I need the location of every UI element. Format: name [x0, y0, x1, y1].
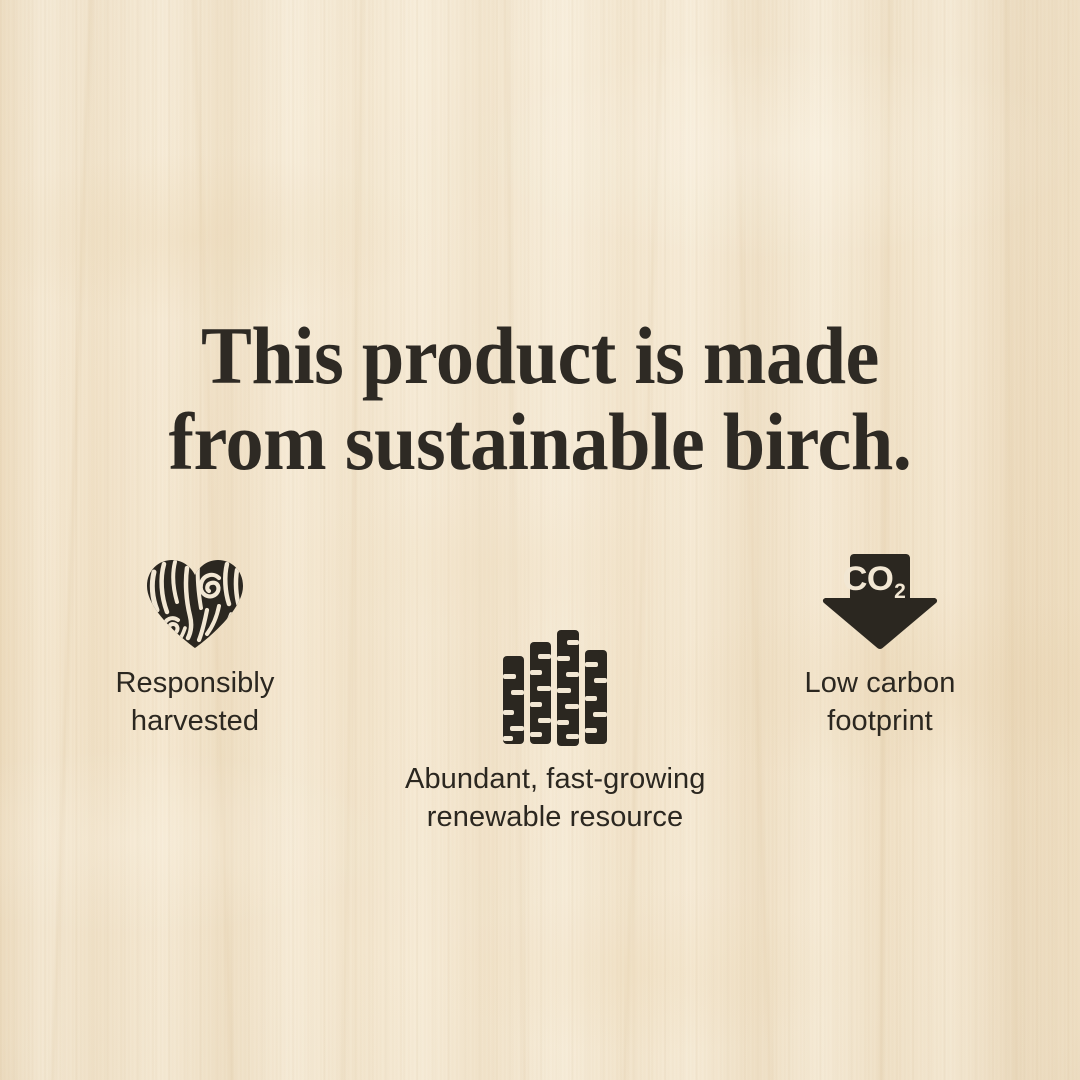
feature-caption: Low carbon footprint: [745, 664, 1015, 741]
feature-icon-slot: CO 2: [745, 546, 1015, 650]
feature-caption-line-1: Low carbon: [745, 664, 1015, 702]
feature-icon-slot: [405, 628, 705, 746]
co2-label: CO: [842, 560, 893, 598]
co2-subscript-label: 2: [894, 580, 906, 603]
birch-trunks-icon: [501, 630, 609, 746]
feature-caption: Responsibly harvested: [60, 664, 330, 741]
feature-caption-line-2: renewable resource: [405, 798, 705, 836]
feature-caption-line-2: harvested: [60, 702, 330, 740]
feature-list: Responsibly harvested: [0, 540, 1080, 860]
feature-caption-line-1: Abundant, fast-growing: [405, 760, 705, 798]
headline-line-1: This product is made: [38, 313, 1042, 399]
feature-caption-line-1: Responsibly: [60, 664, 330, 702]
feature-low-carbon-footprint: CO 2 Low carbon footprint: [745, 546, 1015, 741]
feature-renewable-resource: Abundant, fast-growing renewable resourc…: [405, 628, 705, 837]
page-title: This product is made from sustainable bi…: [38, 313, 1042, 485]
wood-grain-heart-icon: [145, 558, 245, 650]
panel-content: This product is made from sustainable bi…: [0, 0, 1080, 1080]
feature-responsibly-harvested: Responsibly harvested: [60, 550, 330, 741]
co2-down-arrow-icon: CO 2: [822, 554, 938, 650]
feature-caption: Abundant, fast-growing renewable resourc…: [405, 760, 705, 837]
headline-line-2: from sustainable birch.: [38, 399, 1042, 485]
feature-icon-slot: [60, 550, 330, 650]
sustainability-panel: This product is made from sustainable bi…: [0, 0, 1080, 1080]
feature-caption-line-2: footprint: [745, 702, 1015, 740]
